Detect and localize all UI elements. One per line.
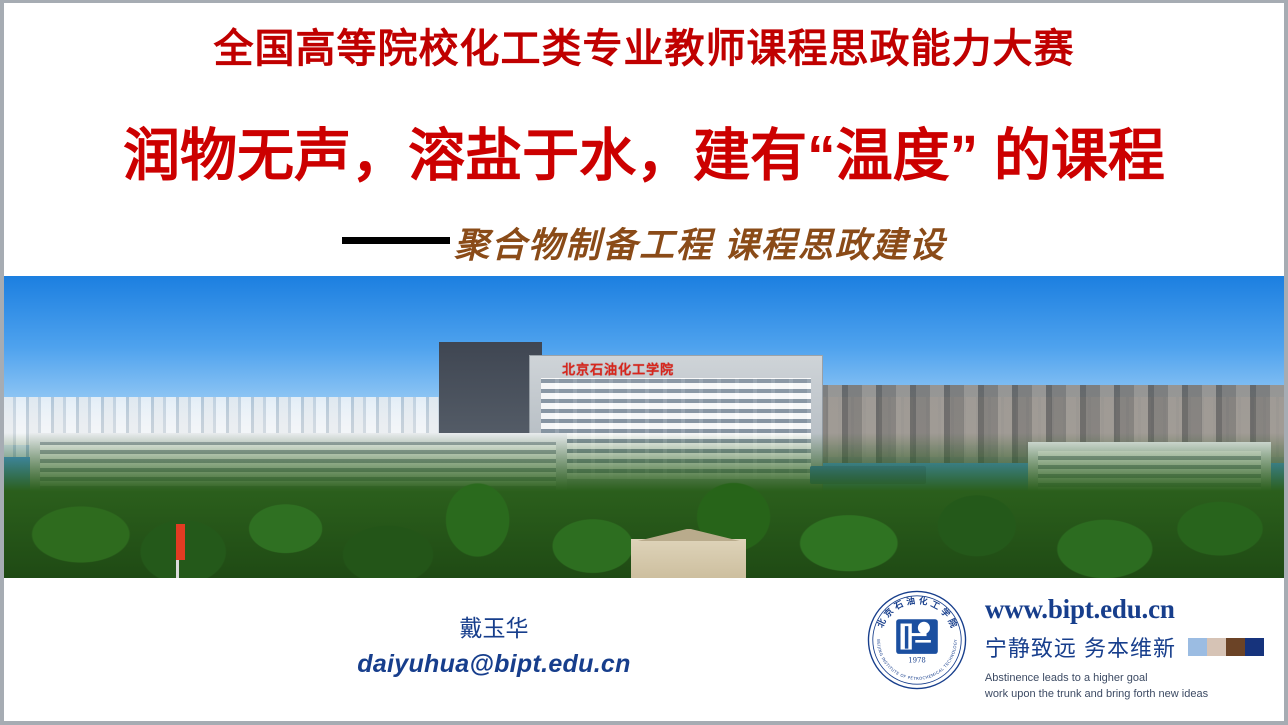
university-brand-block: 北 京 石 油 化 工 学 院 BEIJING INSTITUTE OF PET…: [865, 588, 1264, 703]
university-motto-en: Abstinence leads to a higher goal work u…: [985, 671, 1264, 703]
slide-footer: 戴玉华 daiyuhua@bipt.edu.cn 北 京 石 油 化 工 学 院…: [4, 578, 1284, 721]
swatch-navy: [1245, 638, 1264, 656]
swatch-light-blue: [1188, 638, 1207, 656]
brand-color-swatches: [1188, 638, 1264, 656]
brand-text-block: www.bipt.edu.cn 宁静致远 务本维新 Abstinence lea…: [985, 588, 1264, 703]
svg-text:1978: 1978: [908, 657, 926, 665]
motto-row: 宁静致远 务本维新: [985, 631, 1264, 663]
swatch-brown: [1226, 638, 1245, 656]
photo-pavilion: [631, 539, 746, 578]
competition-title: 全国高等院校化工类专业教师课程思政能力大赛: [4, 27, 1284, 71]
university-website-url[interactable]: www.bipt.edu.cn: [985, 596, 1264, 623]
presenter-block: 戴玉华 daiyuhua@bipt.edu.cn: [304, 613, 684, 679]
presentation-slide: 全国高等院校化工类专业教师课程思政能力大赛 润物无声，溶盐于水，建有“温度” 的…: [0, 0, 1288, 725]
sub-slogan-row: 聚合物制备工程 课程思政建设: [4, 217, 1284, 268]
main-slogan: 润物无声，溶盐于水，建有“温度” 的课程: [4, 127, 1284, 187]
swatch-tan: [1207, 638, 1226, 656]
photo-flag: [176, 524, 185, 560]
em-dash-icon: [342, 237, 450, 244]
university-motto-cn: 宁静致远 务本维新: [985, 631, 1176, 663]
sub-slogan: 聚合物制备工程 课程思政建设: [454, 217, 946, 268]
motto-en-line-2: work upon the trunk and bring forth new …: [985, 687, 1264, 703]
motto-en-line-1: Abstinence leads to a higher goal: [985, 671, 1264, 687]
slide-header: 全国高等院校化工类专业教师课程思政能力大赛 润物无声，溶盐于水，建有“温度” 的…: [4, 3, 1284, 276]
bipt-seal-icon: 北 京 石 油 化 工 学 院 BEIJING INSTITUTE OF PET…: [865, 588, 969, 692]
campus-aerial-photo: 北京石油化工学院: [4, 276, 1284, 578]
building-sign-text: 北京石油化工学院: [562, 359, 674, 378]
presenter-email[interactable]: daiyuhua@bipt.edu.cn: [304, 650, 684, 679]
presenter-name: 戴玉华: [304, 613, 684, 644]
